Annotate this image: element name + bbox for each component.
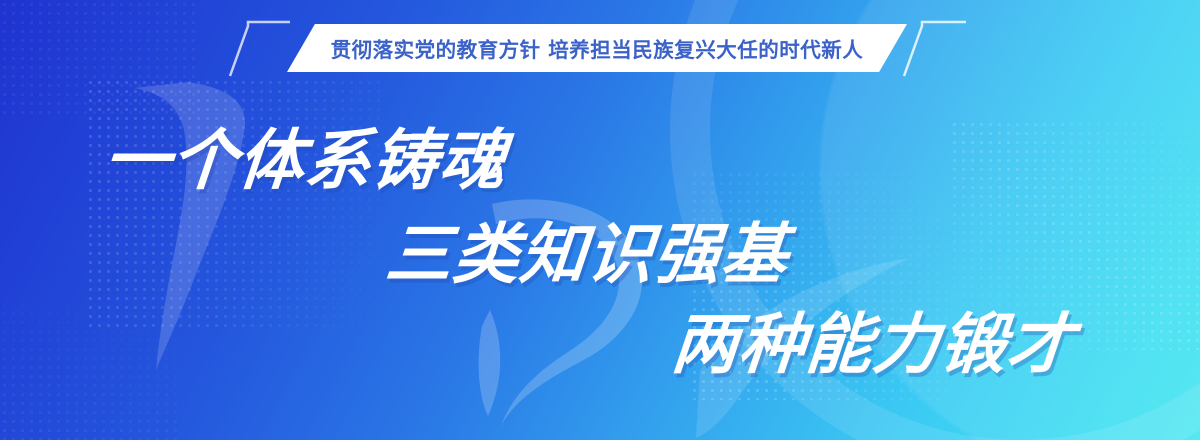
slogan-group: 一个体系铸魂 三类知识强基 两种能力锻才 — [0, 0, 1200, 440]
promotional-banner: 贯彻落实党的教育方针 培养担当民族复兴大任的时代新人 一个体系铸魂 三类知识强基… — [0, 0, 1200, 440]
slogan-line-1: 一个体系铸魂 — [101, 128, 509, 194]
slogan-line-2: 三类知识强基 — [383, 222, 791, 288]
slogan-line-3: 两种能力锻才 — [669, 312, 1077, 378]
